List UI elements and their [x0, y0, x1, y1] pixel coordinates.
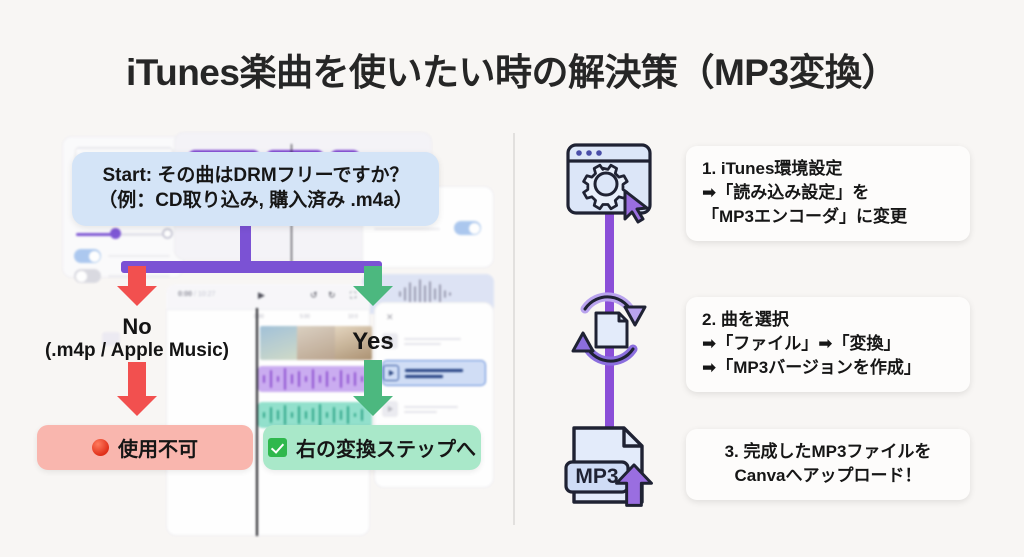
backdrop-player-time: 0:00 / 10:27 — [178, 291, 215, 298]
step-box-1: 1. iTunes環境設定 ➡「読み込み設定」を 「MP3エンコーダ」に変更 — [686, 146, 970, 241]
start-question-line2: （例：CD取り込み, 購入済み .m4a） — [82, 188, 429, 213]
arrow-down-red-bottom — [117, 362, 157, 416]
backdrop-toggle-right — [454, 221, 481, 235]
green-check-icon — [268, 438, 287, 457]
backdrop-row-line — [108, 255, 170, 257]
backdrop-toggle-on — [74, 249, 101, 263]
close-icon: ✕ — [386, 312, 394, 323]
column-divider — [513, 133, 515, 525]
arrow-down-red-top — [117, 266, 157, 306]
step-2-line-3: ➡「MP3バージョンを作成」 — [702, 356, 956, 380]
flow-connector-bar — [121, 261, 382, 273]
step-3-line-1: 3. 完成したMP3ファイルを — [700, 440, 956, 464]
backdrop-slider-fill — [76, 233, 114, 236]
svg-text:MP3: MP3 — [575, 465, 618, 488]
browser-settings-gear-icon — [562, 140, 656, 229]
result-box-proceed: 右の変換ステップへ — [263, 425, 481, 470]
play-icon: ▶ — [258, 290, 265, 301]
backdrop-slider-knob-secondary — [162, 228, 173, 239]
backdrop-slider-knob — [110, 228, 121, 239]
infographic-canvas: iTunes楽曲を使いたい時の解決策（MP3変換） — [0, 0, 1024, 557]
arrow-down-green-bottom — [353, 360, 393, 416]
backdrop-list-meta — [405, 366, 485, 381]
redo-icon: ↻ — [328, 290, 336, 301]
arrow-down-green-top — [353, 266, 393, 306]
result-proceed-label: 右の変換ステップへ — [296, 433, 476, 462]
branch-label-no: No (.m4p / Apple Music) — [22, 314, 252, 363]
backdrop-timeline-ruler: 0:005:0010:0 — [252, 314, 370, 322]
backdrop-row-line — [374, 228, 440, 230]
step-box-3: 3. 完成したMP3ファイルを Canvaへアップロード！ — [686, 429, 970, 500]
step-box-2: 2. 曲を選択 ➡「ファイル」➡「変換」 ➡「MP3バージョンを作成」 — [686, 297, 970, 392]
page-title: iTunes楽曲を使いたい時の解決策（MP3変換） — [0, 42, 1024, 96]
start-question-line1: Start: その曲はDRMフリーですか？ — [82, 163, 429, 188]
file-convert-arrows-icon — [561, 283, 657, 380]
red-circle-icon — [92, 439, 109, 456]
branch-label-yes: Yes — [323, 328, 423, 356]
backdrop-toggle-off — [74, 269, 101, 283]
branch-no-detail: (.m4p / Apple Music) — [22, 340, 252, 363]
step-1-line-3: 「MP3エンコーダ」に変更 — [702, 205, 956, 229]
result-unusable-label: 使用不可 — [118, 433, 198, 462]
backdrop-list-meta — [404, 403, 486, 416]
step-1-line-2: ➡「読み込み設定」を — [702, 181, 956, 205]
undo-icon: ↺ — [310, 290, 318, 301]
start-question-box: Start: その曲はDRMフリーですか？ （例：CD取り込み, 購入済み .m… — [72, 152, 439, 226]
branch-no-text: No — [22, 314, 252, 340]
mp3-file-upload-icon: MP3 — [552, 410, 664, 519]
step-2-line-1: 2. 曲を選択 — [702, 308, 956, 332]
step-1-line-1: 1. iTunes環境設定 — [702, 157, 956, 181]
step-3-line-2: Canvaへアップロード！ — [700, 464, 956, 488]
step-2-line-2: ➡「ファイル」➡「変換」 — [702, 332, 956, 356]
backdrop-list-item — [382, 396, 486, 422]
backdrop-list-item-selected — [382, 360, 486, 386]
result-box-unusable: 使用不可 — [37, 425, 253, 470]
